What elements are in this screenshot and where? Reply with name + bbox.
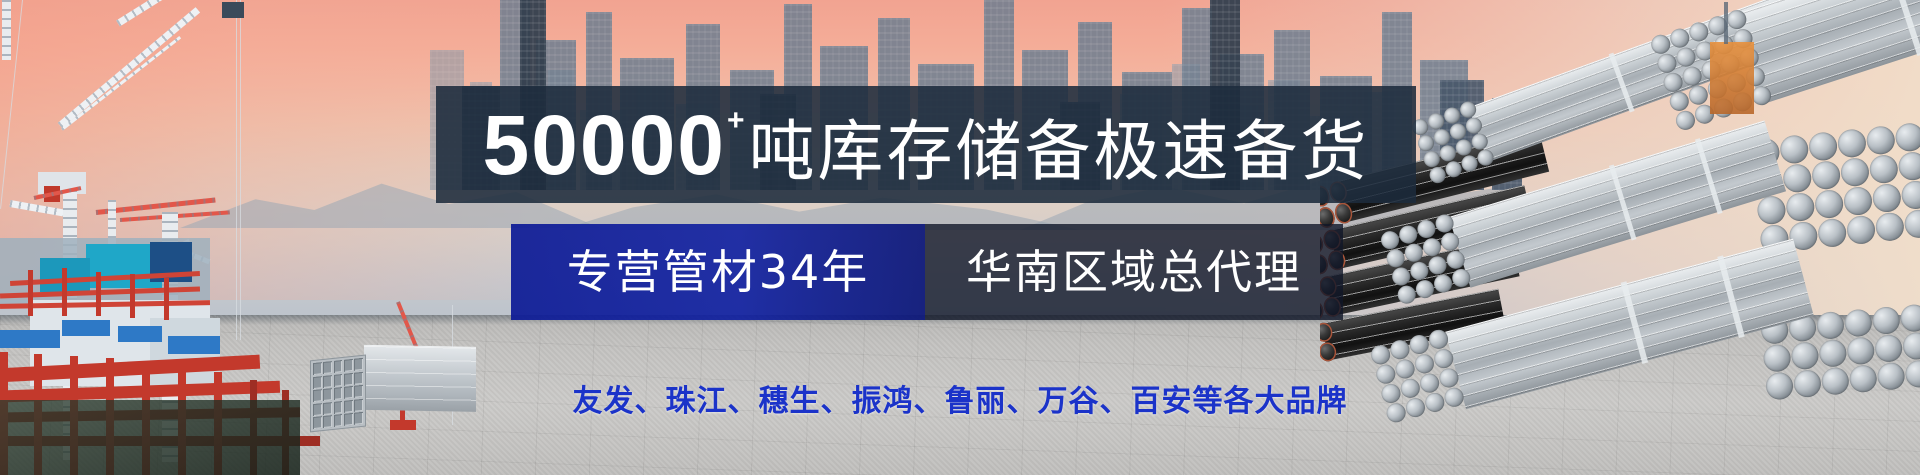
brand-list-text: 友发、珠江、穗生、振鸿、鲁丽、万谷、百安等各大品牌 (0, 376, 1920, 420)
blue-canopy (0, 330, 60, 348)
crane-jib (116, 0, 230, 26)
subtitle-right-text: 华南区域总代理 (966, 249, 1302, 295)
blue-canopy (168, 336, 220, 354)
headline-chinese-text: 吨库存储备极速备货 (749, 119, 1370, 185)
subtitle-bar: 专营管材34年 华南区域总代理 (511, 224, 1343, 320)
headline-number: 50000 (482, 103, 726, 187)
crane-jib (61, 36, 181, 131)
blue-canopy (118, 326, 162, 342)
subtitle-right-panel: 华南区域总代理 (925, 224, 1343, 320)
crane-jib (58, 7, 200, 128)
headline-banner-box: 50000 + 吨库存储备极速备货 (436, 86, 1416, 203)
blue-canopy (62, 320, 110, 336)
subtitle-left-panel: 专营管材34年 (511, 224, 925, 320)
promotional-banner: 50000 + 吨库存储备极速备货 专营管材34年 华南区域总代理 友发、珠江、… (0, 0, 1920, 475)
headline-text: 50000 + 吨库存储备极速备货 (482, 103, 1369, 187)
headline-plus-superscript: + (727, 106, 746, 136)
subtitle-left-text: 专营管材34年 (567, 249, 870, 295)
